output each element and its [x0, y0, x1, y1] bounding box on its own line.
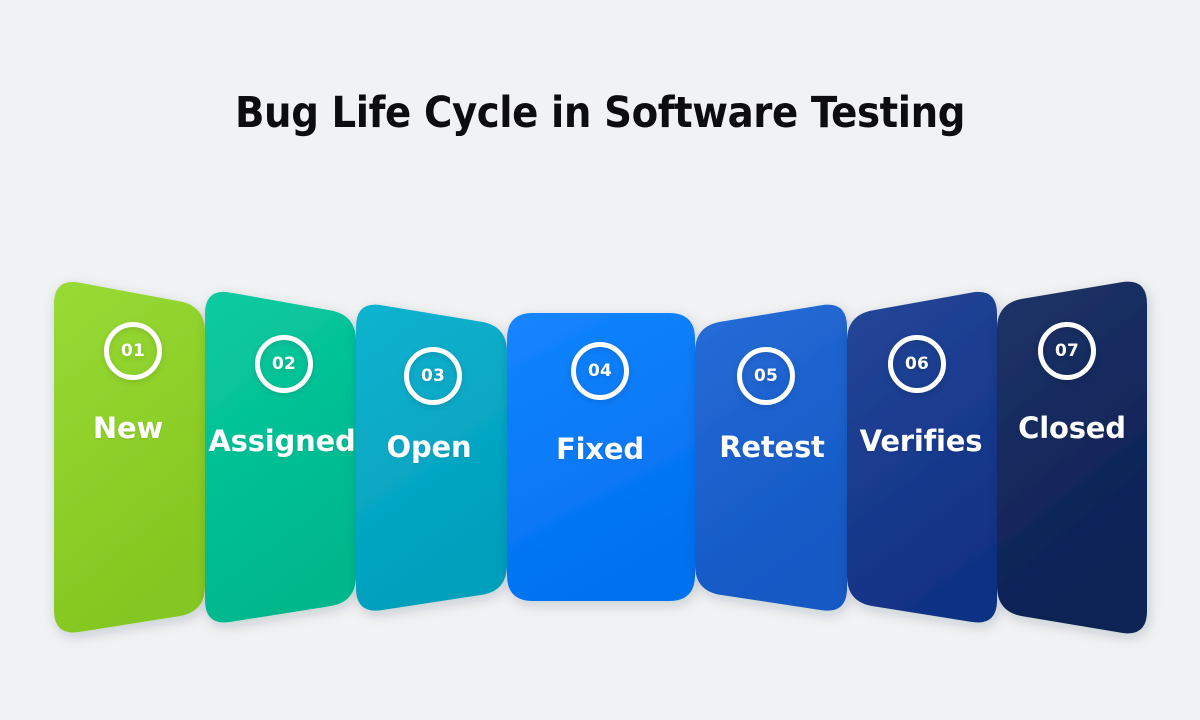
- stage-number-badge-01: 01: [104, 322, 162, 380]
- stage-number-text: 01: [121, 341, 145, 361]
- stage-number-text: 05: [754, 366, 778, 386]
- funnel-overlay-layer: 01New02Assigned03Open04Fixed05Retest06Ve…: [0, 0, 1200, 720]
- stage-number-text: 06: [905, 354, 929, 374]
- stage-number-badge-04: 04: [571, 342, 629, 400]
- stage-label-retest: Retest: [719, 430, 824, 464]
- stage-number-badge-06: 06: [888, 335, 946, 393]
- bug-life-cycle-funnel-diagram: 01New02Assigned03Open04Fixed05Retest06Ve…: [0, 0, 1200, 720]
- stage-label-assigned: Assigned: [208, 424, 355, 458]
- stage-number-badge-07: 07: [1038, 322, 1096, 380]
- stage-number-badge-05: 05: [737, 347, 795, 405]
- stage-label-new: New: [93, 411, 163, 445]
- stage-label-open: Open: [387, 430, 472, 464]
- stage-number-text: 07: [1055, 341, 1079, 361]
- stage-label-closed: Closed: [1018, 411, 1126, 445]
- stage-label-fixed: Fixed: [556, 432, 644, 466]
- stage-number-text: 04: [588, 361, 612, 381]
- stage-number-badge-02: 02: [255, 335, 313, 393]
- stage-number-badge-03: 03: [404, 347, 462, 405]
- stage-number-text: 02: [272, 354, 296, 374]
- stage-label-verifies: Verifies: [860, 424, 983, 458]
- stage-number-text: 03: [421, 366, 445, 386]
